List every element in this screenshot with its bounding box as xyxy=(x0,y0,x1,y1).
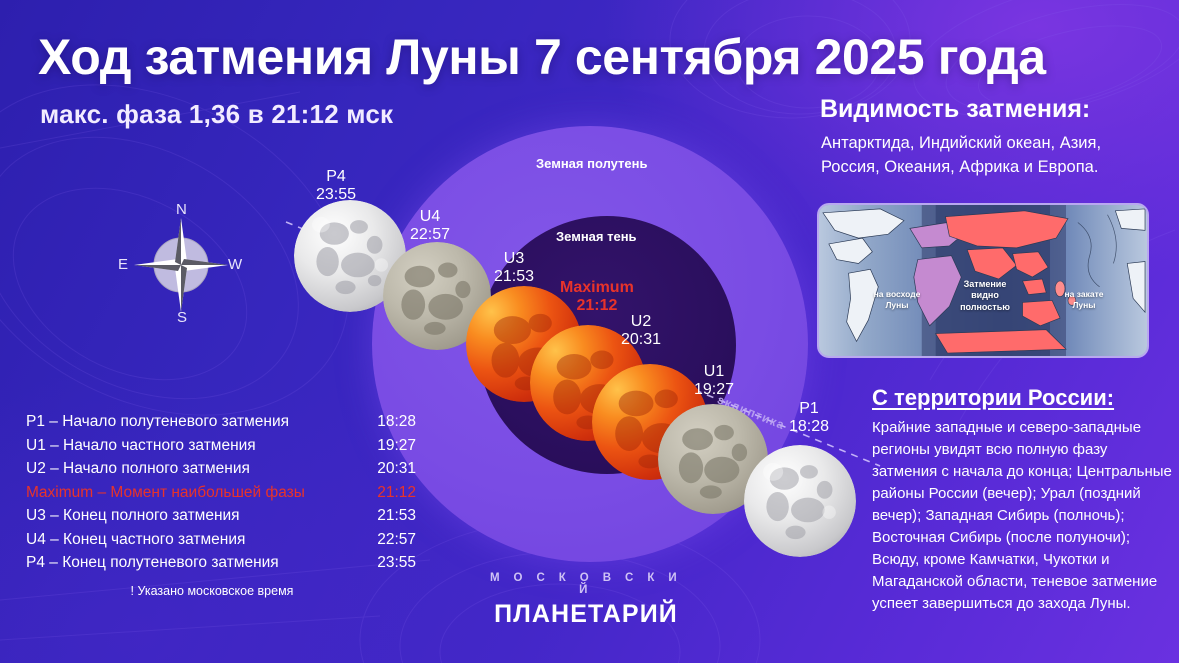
marker-u1: U1 19:27 xyxy=(694,363,734,399)
compass-label-north: N xyxy=(176,201,187,218)
marker-u2: U2 20:31 xyxy=(621,313,661,349)
compass-label-south: S xyxy=(177,309,187,326)
map-label-moonrise: на восходе Луны xyxy=(859,289,935,310)
phase-label: U4 – Конец частного затмения xyxy=(26,528,358,552)
table-row-maximum: Maximum – Момент наибольшей фазы 21:12 xyxy=(26,481,416,505)
planetarium-logo: М О С К О В С К И Й ПЛАНЕТАРИЙ xyxy=(481,573,691,627)
visibility-body: Антарктида, Индийский океан, Азия, Росси… xyxy=(821,132,1161,180)
russia-title: С территории России: xyxy=(872,385,1114,411)
map-label-total: Затмение видно полностью xyxy=(939,279,1031,313)
table-row: P1 – Начало полутеневого затмения 18:28 xyxy=(26,410,416,434)
phase-label: U2 – Начало полного затмения xyxy=(26,457,358,481)
compass-rose: N S E W xyxy=(116,200,246,330)
page-title: Ход затмения Луны 7 сентября 2025 года xyxy=(38,28,1046,86)
phase-label: P1 – Начало полутеневого затмения xyxy=(26,410,358,434)
phase-label: U1 – Начало частного затмения xyxy=(26,434,358,458)
phase-time: 19:27 xyxy=(358,434,416,458)
russia-body: Крайние западные и северо-западные регио… xyxy=(872,417,1172,615)
phase-label: Maximum – Момент наибольшей фазы xyxy=(26,481,358,505)
map-label-moonset: на закате Луны xyxy=(1047,289,1121,310)
marker-u4: U4 22:57 xyxy=(410,208,450,244)
umbra-label: Земная тень xyxy=(556,229,637,244)
logo-line-1: М О С К О В С К И Й xyxy=(481,573,691,596)
table-row: U3 – Конец полного затмения 21:53 xyxy=(26,504,416,528)
logo-line-2: ПЛАНЕТАРИЙ xyxy=(481,602,691,627)
compass-label-east: E xyxy=(118,256,128,273)
visibility-title: Видимость затмения: xyxy=(820,95,1090,124)
marker-u3: U3 21:53 xyxy=(494,250,534,286)
page-subtitle: макс. фаза 1,36 в 21:12 мск xyxy=(40,99,393,130)
marker-p4: P4 23:55 xyxy=(316,168,356,204)
visibility-map: на восходе Луны Затмение видно полностью… xyxy=(817,203,1149,358)
penumbra-label: Земная полутень xyxy=(536,156,647,171)
moon-p1 xyxy=(744,445,856,557)
compass-label-west: W xyxy=(228,256,242,273)
phase-time: 21:53 xyxy=(358,504,416,528)
phase-time: 22:57 xyxy=(358,528,416,552)
phase-time: 20:31 xyxy=(358,457,416,481)
table-row: U2 – Начало полного затмения 20:31 xyxy=(26,457,416,481)
table-row: U4 – Конец частного затмения 22:57 xyxy=(26,528,416,552)
marker-maximum: Maximum 21:12 xyxy=(560,279,634,315)
phase-time: 23:55 xyxy=(358,551,416,575)
infographic-root: Ход затмения Луны 7 сентября 2025 года м… xyxy=(0,0,1179,663)
phase-time: 18:28 xyxy=(358,410,416,434)
phase-label: U3 – Конец полного затмения xyxy=(26,504,358,528)
phase-timings-table: P1 – Начало полутеневого затмения 18:28 … xyxy=(26,410,416,598)
marker-p1: P1 18:28 xyxy=(789,400,829,436)
table-row: U1 – Начало частного затмения 19:27 xyxy=(26,434,416,458)
table-row: P4 – Конец полутеневого затмения 23:55 xyxy=(26,551,416,575)
phase-time: 21:12 xyxy=(358,481,416,505)
timezone-note: ! Указано московское время xyxy=(26,584,416,598)
phase-label: P4 – Конец полутеневого затмения xyxy=(26,551,358,575)
